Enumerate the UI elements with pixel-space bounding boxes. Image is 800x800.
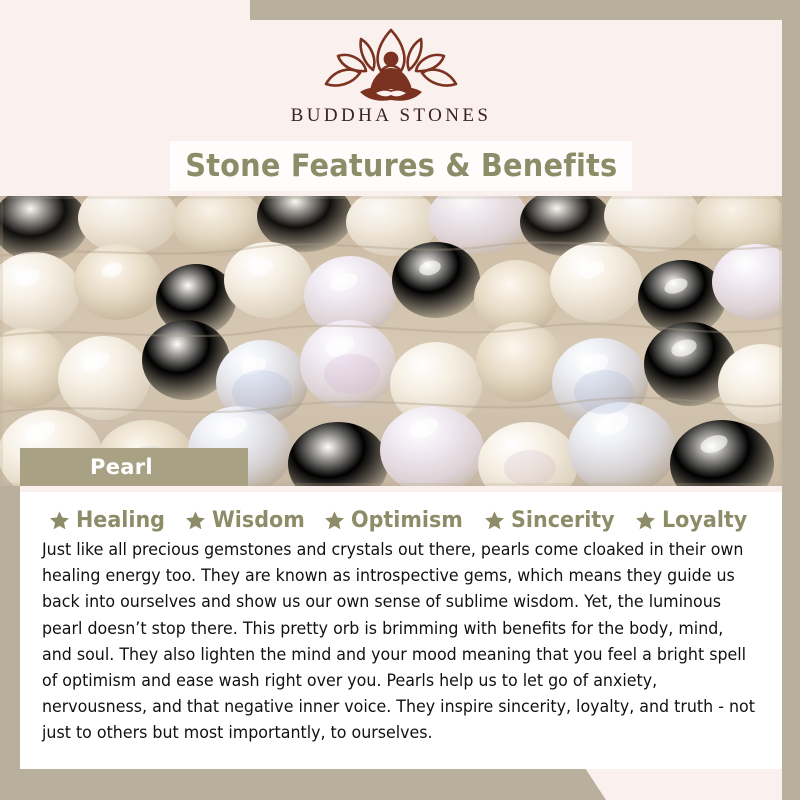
benefit-item-optimism: Optimism <box>324 508 470 533</box>
frame-bottom-bar <box>0 768 606 800</box>
star-icon <box>484 510 505 531</box>
poster-root: BUDDHA STONES Stone Features & Benefits <box>0 0 800 800</box>
benefit-label: Healing <box>76 508 165 533</box>
frame-top-notch <box>0 0 250 20</box>
stone-name: Pearl <box>20 455 153 479</box>
benefit-label: Loyalty <box>662 508 747 533</box>
star-icon <box>635 510 656 531</box>
stone-name-band: Pearl <box>20 448 248 486</box>
page-title-band: Stone Features & Benefits <box>170 141 632 191</box>
benefit-item-loyalty: Loyalty <box>635 508 753 533</box>
benefit-label: Sincerity <box>511 508 615 533</box>
frame-right-bar <box>782 0 800 800</box>
benefit-label: Wisdom <box>212 508 305 533</box>
benefit-item-sincerity: Sincerity <box>484 508 621 533</box>
star-icon <box>324 510 345 531</box>
pearl-cluster-photo <box>0 196 782 486</box>
benefit-label: Optimism <box>351 508 463 533</box>
brand-wordmark: BUDDHA STONES <box>291 105 492 127</box>
benefit-item-wisdom: Wisdom <box>185 508 311 533</box>
page-title: Stone Features & Benefits <box>185 148 617 184</box>
star-icon <box>185 510 206 531</box>
star-icon <box>49 510 70 531</box>
benefit-item-healing: Healing <box>49 508 171 533</box>
description-text: Just like all precious gemstones and cry… <box>42 537 755 747</box>
brand-logo-block: BUDDHA STONES <box>0 20 782 138</box>
benefits-row: Healing Wisdom Optimism <box>42 508 760 533</box>
content-panel: Healing Wisdom Optimism <box>20 492 782 769</box>
lotus-meditation-icon <box>316 26 466 104</box>
